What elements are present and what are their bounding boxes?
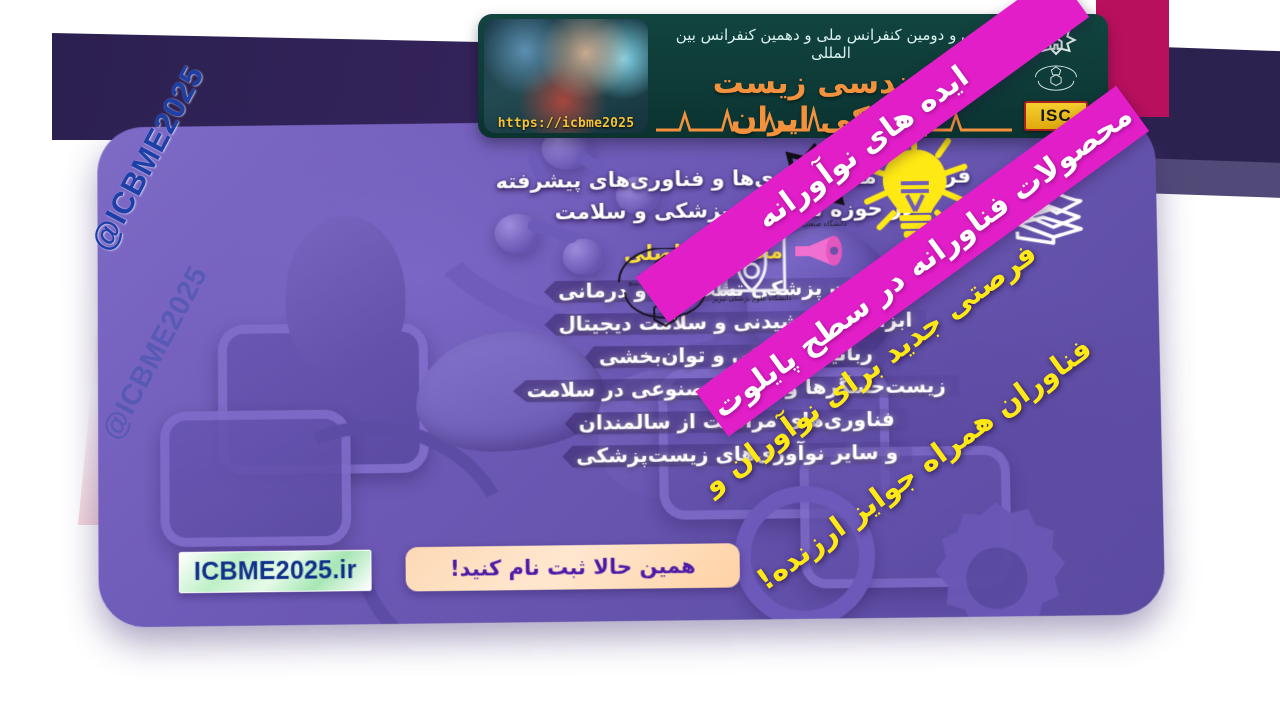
megaphone-icon — [793, 234, 845, 268]
banner-thumbnail-url: https://icbme2025 — [484, 116, 648, 131]
decor-gear-icon — [900, 487, 1094, 628]
poster-canvas: دانشگاه صنعتی سهند دانشگاه علوم پزشکی تب… — [0, 0, 1280, 720]
decor-bulb-3d — [285, 215, 406, 376]
svg-text:دانشگاه علوم پزشکی تبریز: دانشگاه علوم پزشکی تبریز — [711, 293, 791, 303]
register-now-button[interactable]: همین حالا ثبت نام کنید! — [406, 543, 741, 591]
poster-footer-row: ICBME2025.ir همین حالا ثبت نام کنید! — [179, 543, 740, 594]
banner-thumbnail-image: https://icbme2025 — [484, 19, 648, 133]
website-url-chip[interactable]: ICBME2025.ir — [179, 549, 372, 593]
isbme-society-logo-small — [1027, 65, 1085, 93]
